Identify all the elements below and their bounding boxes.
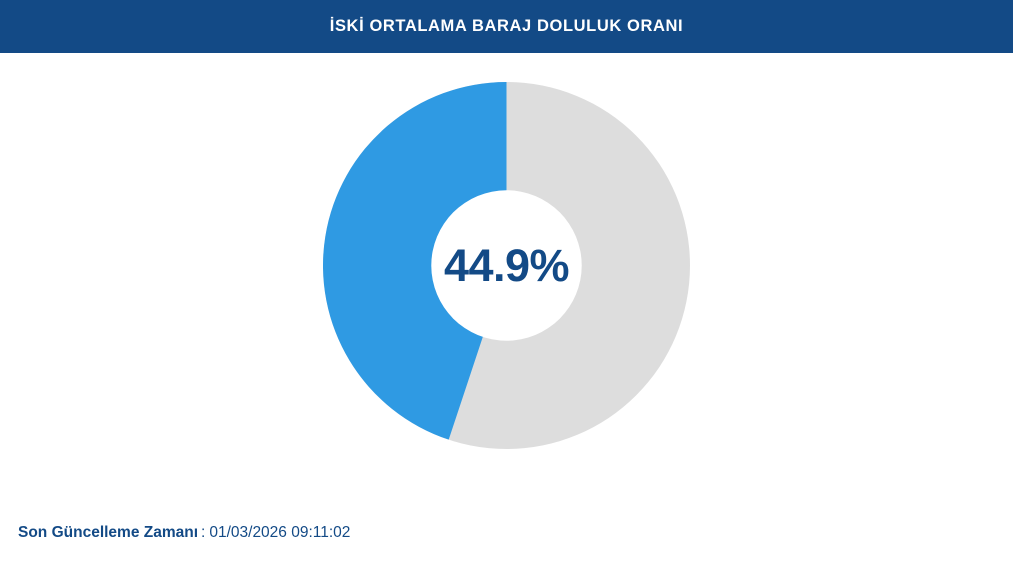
last-update-label: Son Güncelleme Zamanı bbox=[18, 525, 198, 541]
donut-chart-svg bbox=[323, 82, 690, 449]
page-title: İSKİ ORTALAMA BARAJ DOLULUK ORANI bbox=[330, 18, 683, 35]
last-update-value: 01/03/2026 09:11:02 bbox=[209, 525, 350, 541]
last-update-info: Son Güncelleme Zamanı : 01/03/2026 09:11… bbox=[18, 525, 350, 541]
donut-hole bbox=[431, 190, 581, 340]
page-header: İSKİ ORTALAMA BARAJ DOLULUK ORANI bbox=[0, 0, 1013, 53]
last-update-separator: : bbox=[201, 525, 205, 541]
donut-chart: 44.9% bbox=[323, 82, 690, 449]
donut-chart-container: 44.9% bbox=[0, 53, 1013, 473]
